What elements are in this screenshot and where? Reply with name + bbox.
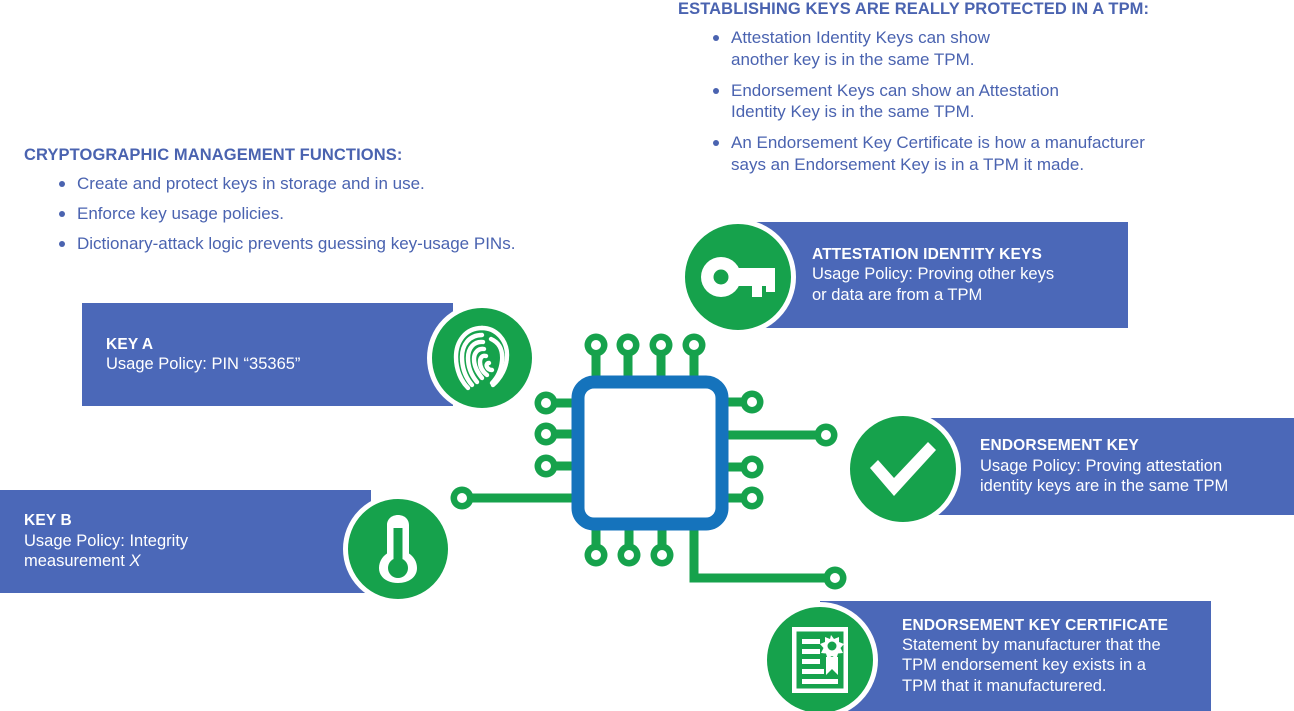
thermometer-stem-inner — [394, 528, 403, 562]
banner-endorsement-key-certificate-subtitle-line1: Statement by manufacturer that the — [902, 635, 1168, 655]
checkmark-glyph — [866, 440, 940, 498]
banner-endorsement-key-title: ENDORSEMENT KEY — [980, 436, 1228, 455]
banner-key-a-text: KEY A Usage Policy: PIN “35365” — [106, 335, 300, 375]
banner-key-b-subtitle-line2: measurement X — [24, 551, 188, 571]
list-item: Attestation Identity Keys can show anoth… — [705, 27, 1149, 71]
thermometer-glyph — [376, 513, 420, 585]
establishing-keys-heading: ESTABLISHING KEYS ARE REALLY PROTECTED I… — [678, 0, 1149, 19]
banner-endorsement-key-certificate-subtitle-line2: TPM endorsement key exists in a — [902, 655, 1168, 675]
list-item: Enforce key usage policies. — [51, 203, 515, 225]
banner-endorsement-key-certificate-title: ENDORSEMENT KEY CERTIFICATE — [902, 616, 1168, 635]
establishing-keys-list: Attestation Identity Keys can show anoth… — [678, 27, 1149, 176]
banner-endorsement-key-subtitle-line1: Usage Policy: Proving attestation — [980, 456, 1228, 476]
banner-endorsement-key-text: ENDORSEMENT KEY Usage Policy: Proving at… — [980, 436, 1228, 496]
banner-key-a-subtitle: Usage Policy: PIN “35365” — [106, 354, 300, 374]
crypto-functions-text-block: CRYPTOGRAPHIC MANAGEMENT FUNCTIONS: Crea… — [24, 146, 515, 254]
chip-body — [578, 382, 722, 524]
diagram-canvas: CRYPTOGRAPHIC MANAGEMENT FUNCTIONS: Crea… — [0, 0, 1294, 711]
fingerprint-icon — [427, 303, 537, 413]
list-item: An Endorsement Key Certificate is how a … — [705, 132, 1149, 176]
crypto-functions-heading: CRYPTOGRAPHIC MANAGEMENT FUNCTIONS: — [24, 146, 515, 165]
banner-endorsement-key-certificate-text: ENDORSEMENT KEY CERTIFICATE Statement by… — [902, 616, 1168, 697]
banner-key-b-subtitle-line1: Usage Policy: Integrity — [24, 531, 188, 551]
banner-key-b-text: KEY B Usage Policy: Integrity measuremen… — [24, 511, 188, 571]
fingerprint-glyph — [451, 323, 513, 393]
list-item: Endorsement Keys can show an Attestation… — [705, 80, 1149, 124]
key-glyph — [700, 256, 776, 298]
certificate-icon — [762, 602, 878, 711]
banner-attestation-identity-keys-text: ATTESTATION IDENTITY KEYS Usage Policy: … — [812, 245, 1128, 305]
certificate-glyph — [792, 627, 848, 693]
banner-endorsement-key-subtitle-line2: identity keys are in the same TPM — [980, 476, 1228, 496]
list-item: Create and protect keys in storage and i… — [51, 173, 515, 195]
banner-key-b-subtitle-line2-italic: X — [129, 552, 140, 570]
establishing-keys-text-block: ESTABLISHING KEYS ARE REALLY PROTECTED I… — [678, 0, 1149, 185]
thermometer-icon — [343, 494, 453, 604]
banner-attestation-identity-keys-subtitle-line2: or data are from a TPM — [812, 285, 1128, 305]
banner-attestation-identity-keys-subtitle-line1: Usage Policy: Proving other keys — [812, 264, 1128, 284]
crypto-functions-list: Create and protect keys in storage and i… — [24, 173, 515, 254]
banner-endorsement-key-certificate-subtitle-line3: TPM that it manufacturered. — [902, 676, 1168, 696]
key-icon — [680, 219, 796, 335]
banner-key-b-title: KEY B — [24, 511, 188, 530]
banner-endorsement-key-certificate[interactable]: ENDORSEMENT KEY CERTIFICATE Statement by… — [820, 601, 1211, 711]
banner-key-a[interactable]: KEY A Usage Policy: PIN “35365” — [82, 303, 453, 406]
checkmark-icon — [845, 411, 961, 527]
banner-attestation-identity-keys-title: ATTESTATION IDENTITY KEYS — [812, 245, 1128, 264]
banner-key-b[interactable]: KEY B Usage Policy: Integrity measuremen… — [0, 490, 371, 593]
list-item: Dictionary-attack logic prevents guessin… — [51, 233, 515, 255]
banner-key-a-title: KEY A — [106, 335, 300, 354]
banner-key-b-subtitle-line2-prefix: measurement — [24, 552, 129, 570]
